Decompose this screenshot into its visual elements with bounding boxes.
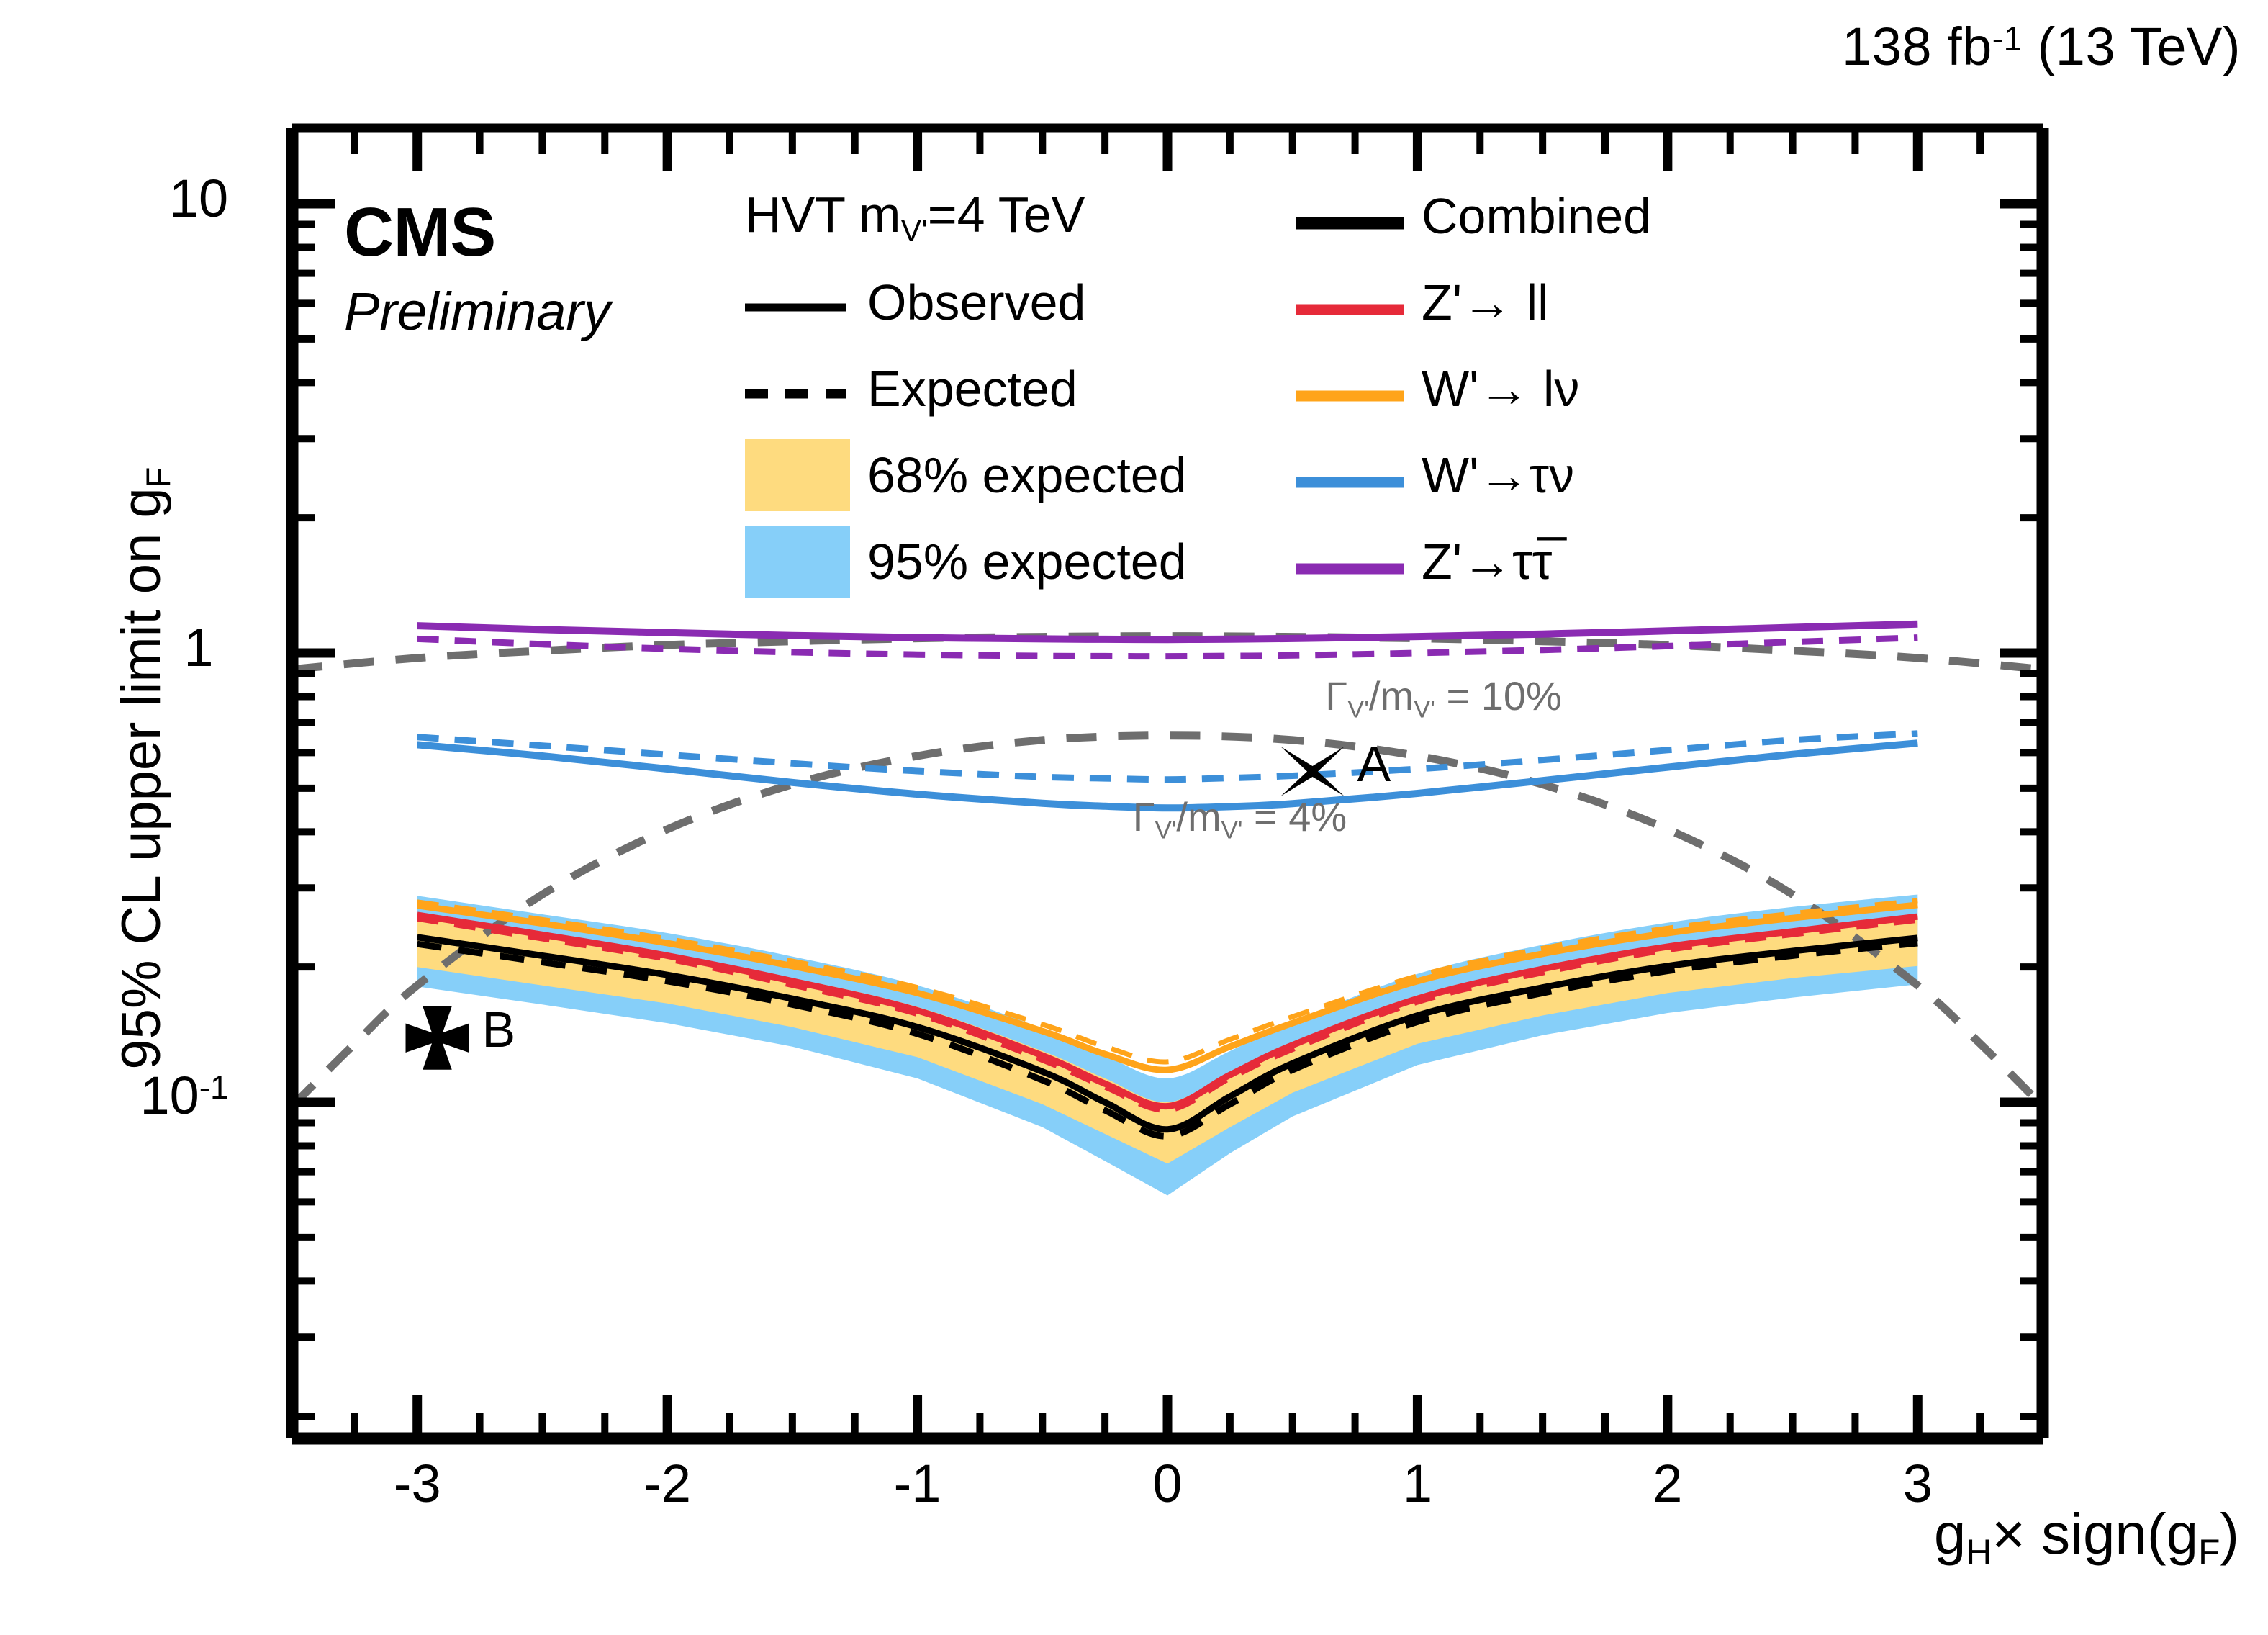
width-annotation-4-percent: ΓV'/mV' = 4%: [1133, 793, 1347, 844]
legend-model-post: =4 TeV: [928, 186, 1085, 243]
legend-item-combined[interactable]: Combined: [1422, 187, 1651, 245]
width4-gamma: Γ: [1133, 794, 1155, 839]
x-axis-title-gsub: H: [1966, 1532, 1992, 1572]
energy-value: (13 TeV): [2038, 17, 2241, 76]
limit-curves: [417, 624, 1918, 1136]
marker-b-glyph: [406, 1006, 469, 1070]
x-tick-label-2: -1: [853, 1453, 982, 1514]
y-tick-label-0p1: 10-1: [105, 1065, 263, 1126]
luminosity-label: 138 fb-1 (13 TeV): [1842, 16, 2241, 77]
legend-item-zll[interactable]: Z'→ ll: [1422, 274, 1549, 331]
width10-post: = 10%: [1435, 673, 1562, 719]
y-axis-title-sub: F: [139, 467, 177, 488]
legend-model-header: HVT mV'=4 TeV: [745, 186, 1085, 249]
curve-ztautau-observed: [417, 624, 1918, 639]
legend-item-ztautau[interactable]: Z'→ττ̅: [1422, 533, 1552, 590]
x-tick-label-5: 2: [1603, 1453, 1732, 1514]
width4-sub2: V': [1221, 816, 1243, 844]
legend-item-95-expected[interactable]: 95% expected: [867, 533, 1187, 590]
legend-key-95: [745, 526, 850, 598]
width10-sub2: V': [1414, 696, 1435, 724]
width10-gamma: Γ: [1325, 673, 1347, 719]
y-axis-title-text: 95% CL upper limit on g: [111, 487, 172, 1069]
legend-item-expected[interactable]: Expected: [867, 360, 1077, 418]
x-tick-label-4: 1: [1352, 1453, 1482, 1514]
legend-model-pre: HVT m: [745, 186, 901, 243]
marker-label-a: A: [1357, 735, 1391, 793]
preliminary-label: Preliminary: [344, 281, 610, 342]
x-tick-label-6: 3: [1853, 1453, 1982, 1514]
x-tick-label-1: -2: [602, 1453, 732, 1514]
x-axis-title-mid: × sign(g: [1992, 1502, 2198, 1566]
legend-item-observed[interactable]: Observed: [867, 274, 1085, 331]
legend-key-68: [745, 439, 850, 511]
y-tick-label-10: 10: [134, 168, 263, 229]
legend-item-68-expected[interactable]: 68% expected: [867, 446, 1187, 504]
cms-logo: CMS: [344, 193, 495, 272]
x-tick-label-3: 0: [1103, 1453, 1232, 1514]
lumi-value: 138 fb: [1842, 17, 1992, 76]
x-tick-label-0: -3: [353, 1453, 482, 1514]
x-axis-title-fsub: F: [2198, 1532, 2220, 1572]
y-axis-title: 95% CL upper limit on gF: [110, 235, 178, 1301]
marker-label-b: B: [482, 1001, 516, 1058]
lumi-exponent: -1: [1992, 19, 2023, 57]
curve-wtaunu-expected: [417, 734, 1918, 780]
legend-item-wtaunu[interactable]: W'→τν: [1422, 446, 1574, 504]
width4-post: = 4%: [1242, 794, 1347, 839]
y-tick-label-1: 1: [134, 617, 263, 678]
width10-mid: /m: [1369, 673, 1414, 719]
width-contours: [292, 636, 2043, 1107]
legend-item-wlnu[interactable]: W'→ lν: [1422, 360, 1579, 418]
width10-sub1: V': [1347, 696, 1369, 724]
width-annotation-10-percent: ΓV'/mV' = 10%: [1325, 672, 1562, 724]
legend-model-sub: V': [901, 214, 928, 248]
x-axis-title-end: ): [2220, 1502, 2239, 1566]
width4-mid: /m: [1176, 794, 1221, 839]
width4-sub1: V': [1155, 816, 1177, 844]
